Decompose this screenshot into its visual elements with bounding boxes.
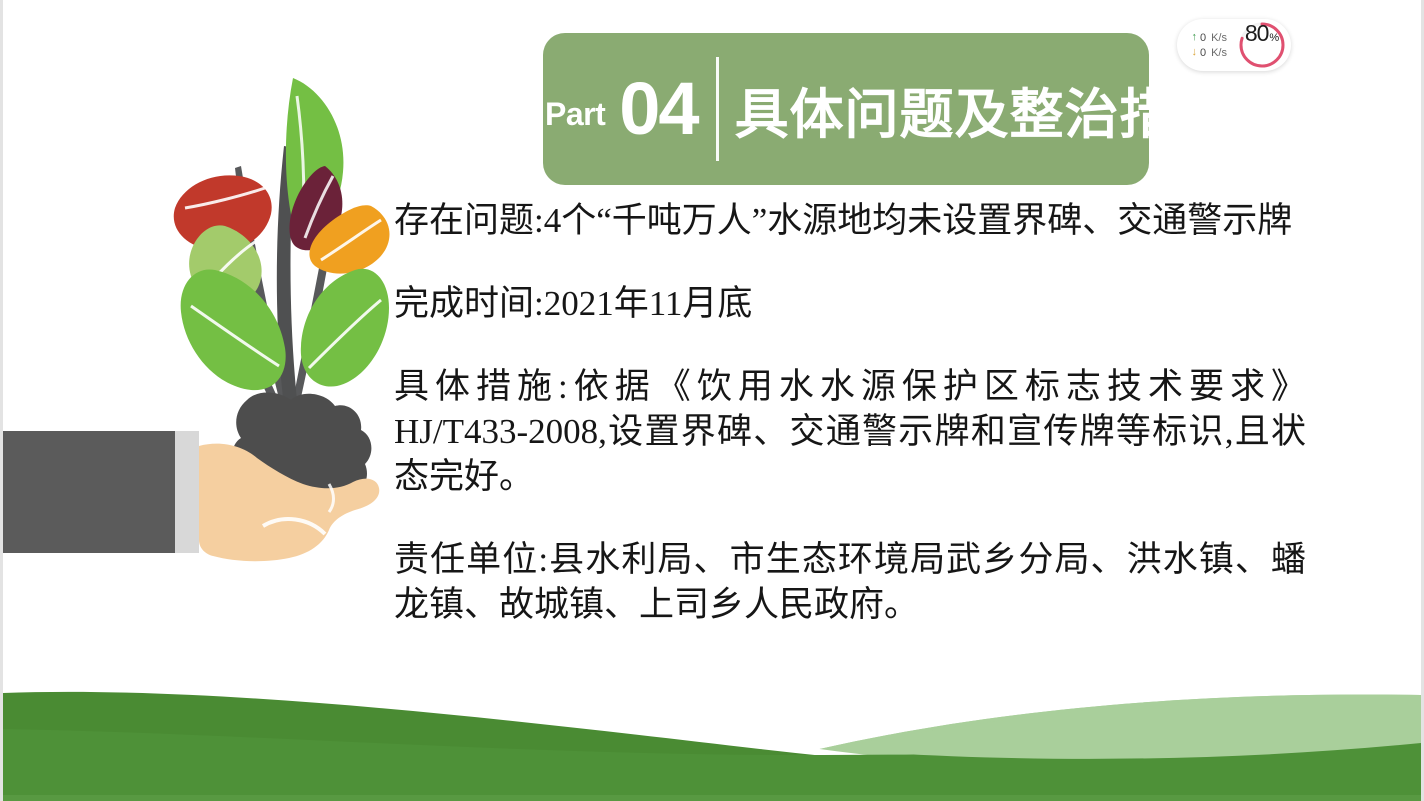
banner-title: 具体问题及整治措施: [735, 70, 1230, 149]
bottom-wave-decoration: [3, 651, 1421, 801]
upload-rate-row: ↑ 0 K/s: [1191, 32, 1227, 44]
battery-percent-value: 80: [1245, 20, 1269, 47]
upload-rate-value: 0: [1200, 32, 1206, 44]
banner-part-label: Part: [545, 96, 605, 133]
paragraph-specific-measures: 具体措施:依据《饮用水水源保护区标志技术要求》HJ/T433-2008,设置界碑…: [394, 364, 1306, 499]
network-status-widget[interactable]: ↑ 0 K/s ↓ 0 K/s 80 %: [1177, 19, 1291, 71]
banner-part-number: 04: [619, 72, 697, 146]
presentation-slide: Part 04 具体问题及整治措施 存在问题:4个“千吨万人”水源地均未设置界碑…: [0, 0, 1424, 801]
arrow-down-icon: ↓: [1191, 47, 1197, 58]
banner-divider: [716, 57, 719, 161]
upload-rate-unit: K/s: [1211, 32, 1227, 44]
battery-percent-unit: %: [1269, 32, 1279, 44]
download-rate-value: 0: [1200, 47, 1206, 59]
download-rate-unit: K/s: [1211, 47, 1227, 59]
battery-gauge-label: 80 %: [1237, 20, 1287, 70]
arrow-up-icon: ↑: [1191, 32, 1197, 43]
plant-illustration: [3, 48, 403, 608]
download-rate-row: ↓ 0 K/s: [1191, 47, 1227, 59]
slide-body: 存在问题:4个“千吨万人”水源地均未设置界碑、交通警示牌 完成时间:2021年1…: [394, 198, 1306, 649]
paragraph-responsible-units: 责任单位:县水利局、市生态环境局武乡分局、洪水镇、蟠龙镇、故城镇、上司乡人民政府…: [394, 537, 1306, 627]
paragraph-completion-time: 完成时间:2021年11月底: [394, 281, 1306, 326]
network-rates: ↑ 0 K/s ↓ 0 K/s: [1191, 32, 1227, 59]
paragraph-existing-problem: 存在问题:4个“千吨万人”水源地均未设置界碑、交通警示牌: [394, 198, 1306, 243]
section-banner: Part 04 具体问题及整治措施: [543, 33, 1149, 185]
battery-gauge[interactable]: 80 %: [1237, 20, 1287, 70]
